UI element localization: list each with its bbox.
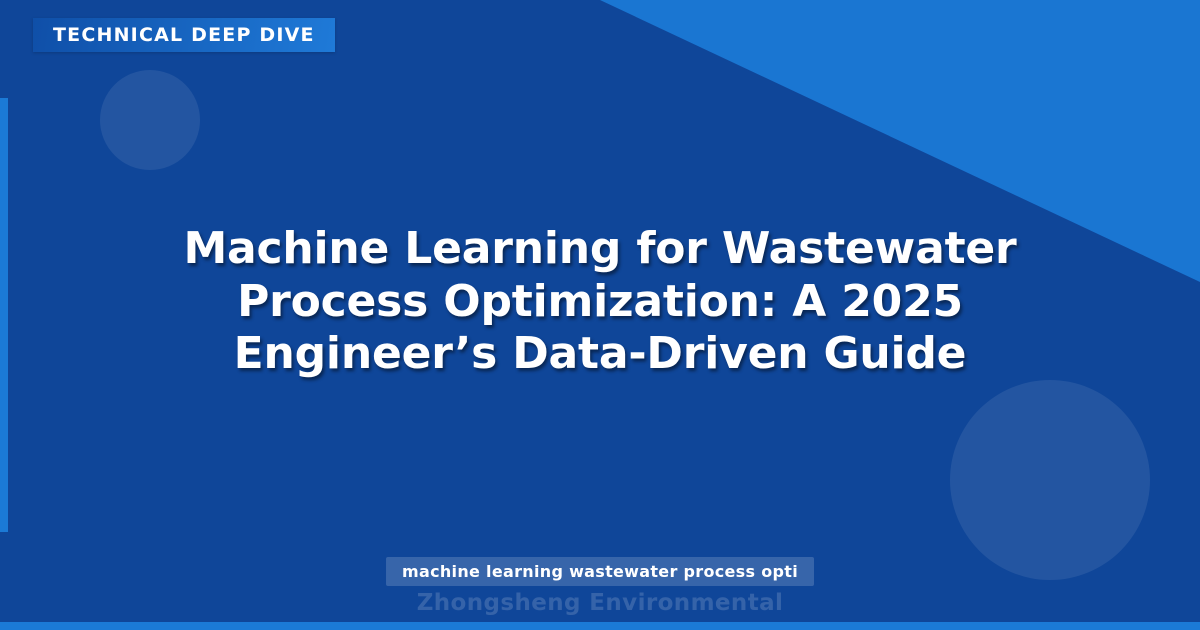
headline-container: Machine Learning for Wastewater Process …	[0, 0, 1200, 630]
social-share-banner: TECHNICAL DEEP DIVE Machine Learning for…	[0, 0, 1200, 630]
brand-watermark: Zhongsheng Environmental	[0, 590, 1200, 616]
keyword-tag: machine learning wastewater process opti	[386, 557, 814, 586]
page-title: Machine Learning for Wastewater Process …	[120, 223, 1080, 407]
keyword-tag-label: machine learning wastewater process opti	[402, 562, 798, 581]
